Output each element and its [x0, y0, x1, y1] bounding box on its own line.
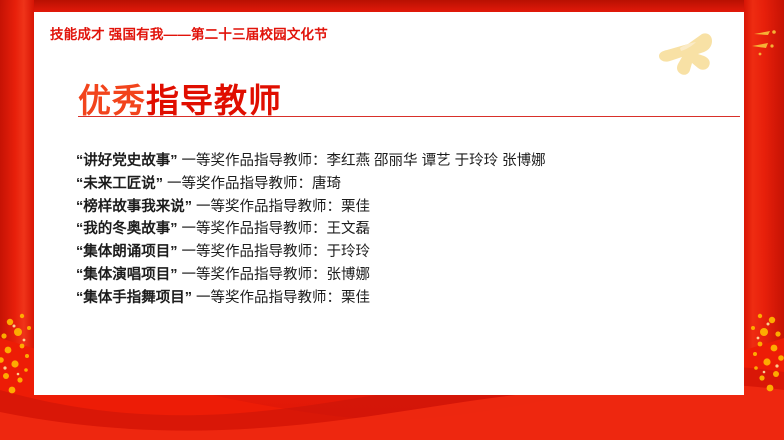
entry-award-teachers: 一等奖作品指导教师：唐琦 — [163, 176, 341, 192]
award-entry-row: “未来工匠说” 一等奖作品指导教师：唐琦 — [76, 173, 734, 196]
award-entry-row: “榜样故事我来说” 一等奖作品指导教师：栗佳 — [76, 196, 734, 219]
title-prefix: 优秀 — [78, 82, 146, 119]
title-main: 指导教师 — [146, 82, 282, 119]
event-header: 技能成才 强国有我——第二十三届校园文化节 — [50, 23, 328, 43]
entry-work-title: “集体朗诵项目” — [76, 244, 178, 260]
title-underline-rule — [78, 116, 740, 117]
entry-award-teachers: 一等奖作品指导教师：于玲玲 — [178, 244, 371, 260]
entry-work-title: “集体手指舞项目” — [76, 290, 192, 306]
presentation-slide: 技能成才 强国有我——第二十三届校园文化节 优秀指导教师 “讲好党史故事” 一等… — [0, 0, 784, 440]
entry-award-teachers: 一等奖作品指导教师：栗佳 — [192, 290, 370, 306]
entry-work-title: “未来工匠说” — [76, 176, 163, 192]
entry-work-title: “榜样故事我来说” — [76, 199, 192, 215]
award-entry-list: “讲好党史故事” 一等奖作品指导教师：李红燕 邵丽华 谭艺 于玲玲 张博娜“未来… — [76, 150, 734, 310]
content-card: 技能成才 强国有我——第二十三届校园文化节 优秀指导教师 “讲好党史故事” 一等… — [34, 12, 744, 395]
entry-award-teachers: 一等奖作品指导教师：王文磊 — [178, 221, 371, 237]
award-entry-row: “集体演唱项目” 一等奖作品指导教师：张博娜 — [76, 264, 734, 287]
entry-work-title: “讲好党史故事” — [76, 153, 178, 169]
entry-work-title: “我的冬奥故事” — [76, 221, 178, 237]
entry-award-teachers: 一等奖作品指导教师：李红燕 邵丽华 谭艺 于玲玲 张博娜 — [178, 153, 546, 169]
award-entry-row: “我的冬奥故事” 一等奖作品指导教师：王文磊 — [76, 218, 734, 241]
slide-right-border — [744, 0, 784, 440]
entry-work-title: “集体演唱项目” — [76, 267, 178, 283]
entry-award-teachers: 一等奖作品指导教师：栗佳 — [192, 199, 370, 215]
slide-top-border — [0, 0, 784, 12]
dove-icon — [654, 26, 726, 82]
slide-left-border — [0, 0, 34, 440]
entry-award-teachers: 一等奖作品指导教师：张博娜 — [178, 267, 371, 283]
award-entry-row: “讲好党史故事” 一等奖作品指导教师：李红燕 邵丽华 谭艺 于玲玲 张博娜 — [76, 150, 734, 173]
page-title: 优秀指导教师 — [78, 74, 282, 122]
award-entry-row: “集体手指舞项目” 一等奖作品指导教师：栗佳 — [76, 287, 734, 310]
award-entry-row: “集体朗诵项目” 一等奖作品指导教师：于玲玲 — [76, 241, 734, 264]
